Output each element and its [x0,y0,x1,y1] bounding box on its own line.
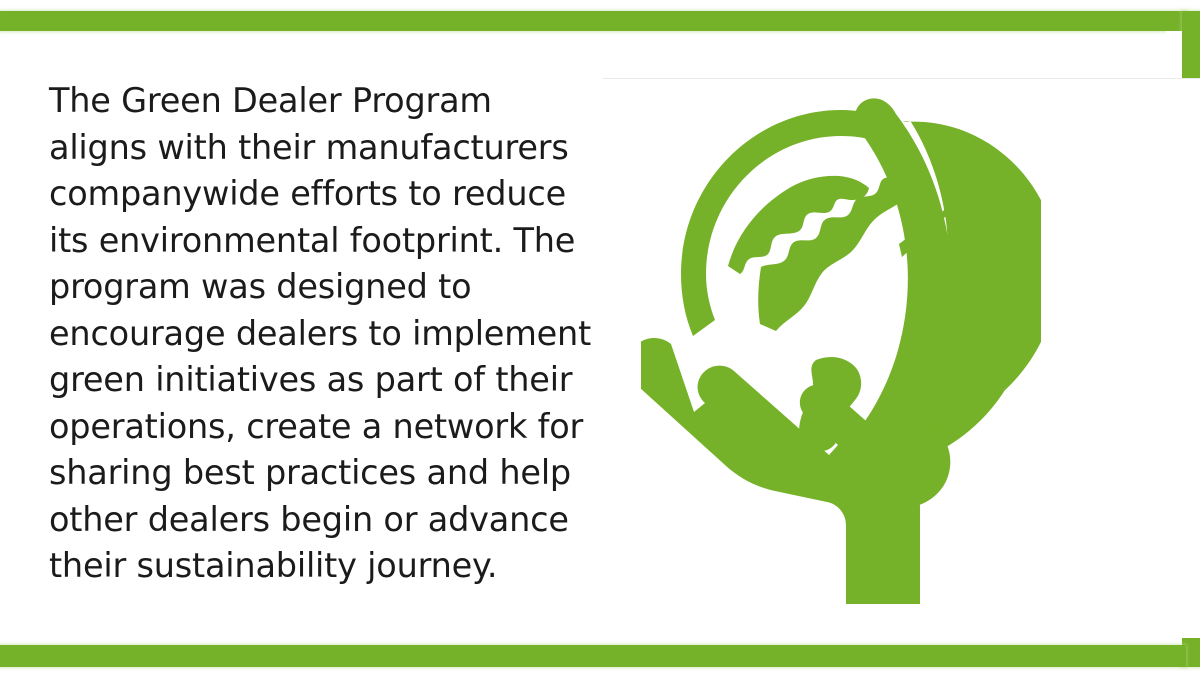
slide-content: The Green Dealer Program aligns with the… [0,31,1166,645]
text-column: The Green Dealer Program aligns with the… [0,31,600,590]
eco-globe-leaf-hand-icon [641,92,1041,612]
top-accent-bar [0,11,1186,31]
body-paragraph: The Green Dealer Program aligns with the… [49,78,600,590]
image-column [600,31,1166,645]
slide-canvas: The Green Dealer Program aligns with the… [0,0,1200,675]
bottom-accent-bar [0,645,1186,667]
image-frame [603,78,1200,638]
